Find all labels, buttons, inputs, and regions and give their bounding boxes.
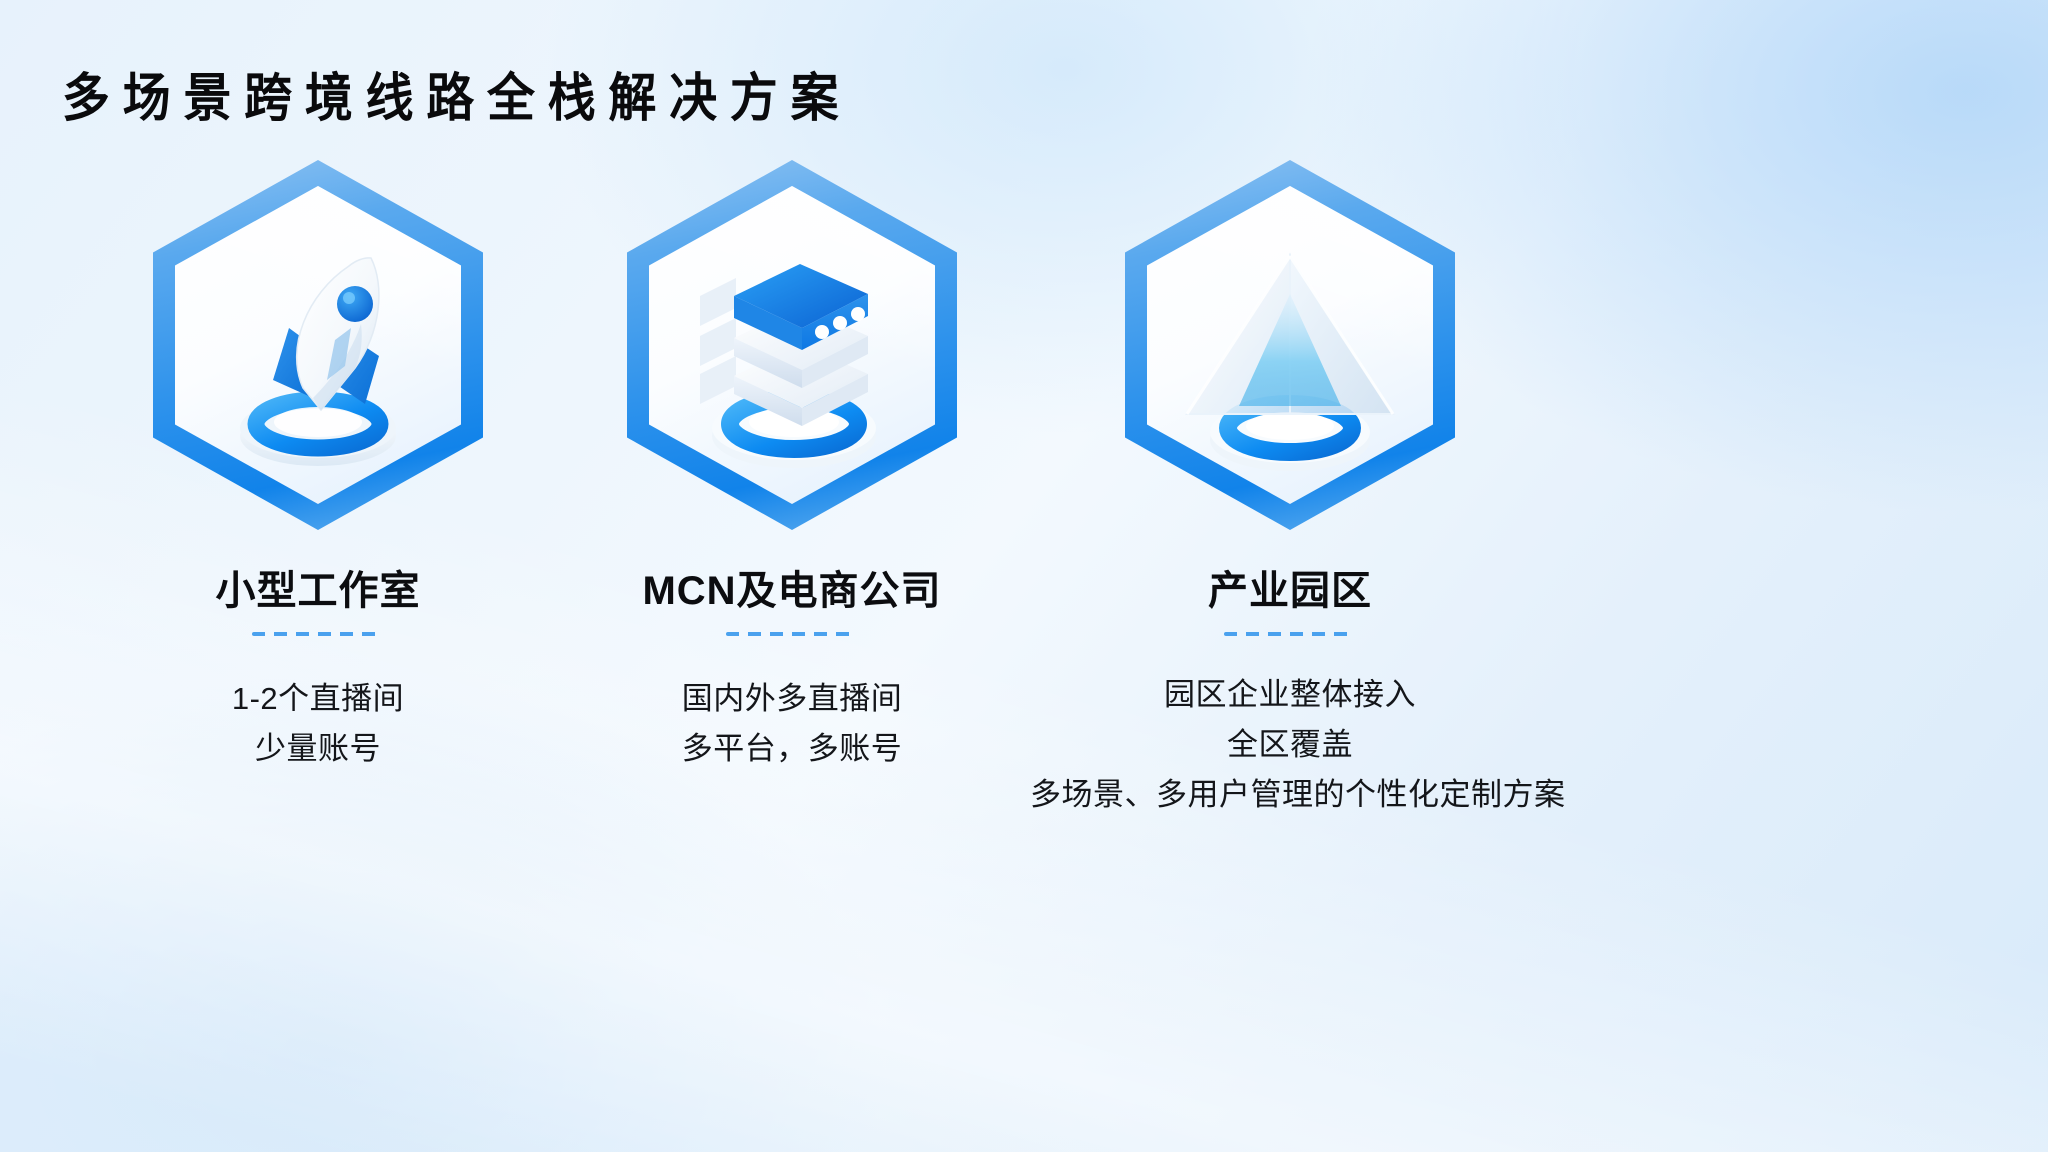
card-description: 1-2个直播间 少量账号 <box>58 674 578 774</box>
glass-pyramid-icon <box>1125 218 1455 488</box>
solution-cards-container: 小型工作室 1-2个直播间 少量账号 <box>0 0 2048 1152</box>
card-title: 小型工作室 <box>58 568 578 614</box>
hexagon-badge <box>153 160 483 530</box>
dashed-divider <box>1224 632 1356 636</box>
card-line: 多场景、多用户管理的个性化定制方案 <box>1030 770 1550 820</box>
dashed-divider <box>252 632 384 636</box>
hexagon-badge <box>1125 160 1455 530</box>
card-description: 园区企业整体接入 全区覆盖 多场景、多用户管理的个性化定制方案 <box>1030 670 1550 821</box>
card-description: 国内外多直播间 多平台，多账号 <box>532 674 1052 774</box>
card-line: 多平台，多账号 <box>532 724 1052 774</box>
page-title: 多场景跨境线路全栈解决方案 <box>62 56 851 131</box>
solution-card: 产业园区 园区企业整体接入 全区覆盖 多场景、多用户管理的个性化定制方案 <box>1030 160 1550 821</box>
solution-card: MCN及电商公司 国内外多直播间 多平台，多账号 <box>532 160 1052 774</box>
card-line: 园区企业整体接入 <box>1030 670 1550 720</box>
solution-card: 小型工作室 1-2个直播间 少量账号 <box>58 160 578 774</box>
dashed-divider <box>726 632 858 636</box>
card-line: 少量账号 <box>58 724 578 774</box>
hexagon-badge <box>627 160 957 530</box>
card-line: 1-2个直播间 <box>58 674 578 724</box>
card-title: 产业园区 <box>1030 568 1550 614</box>
rocket-icon <box>153 218 483 488</box>
card-line: 全区覆盖 <box>1030 720 1550 770</box>
server-stack-icon <box>627 218 957 488</box>
card-line: 国内外多直播间 <box>532 674 1052 724</box>
card-title: MCN及电商公司 <box>532 568 1052 614</box>
